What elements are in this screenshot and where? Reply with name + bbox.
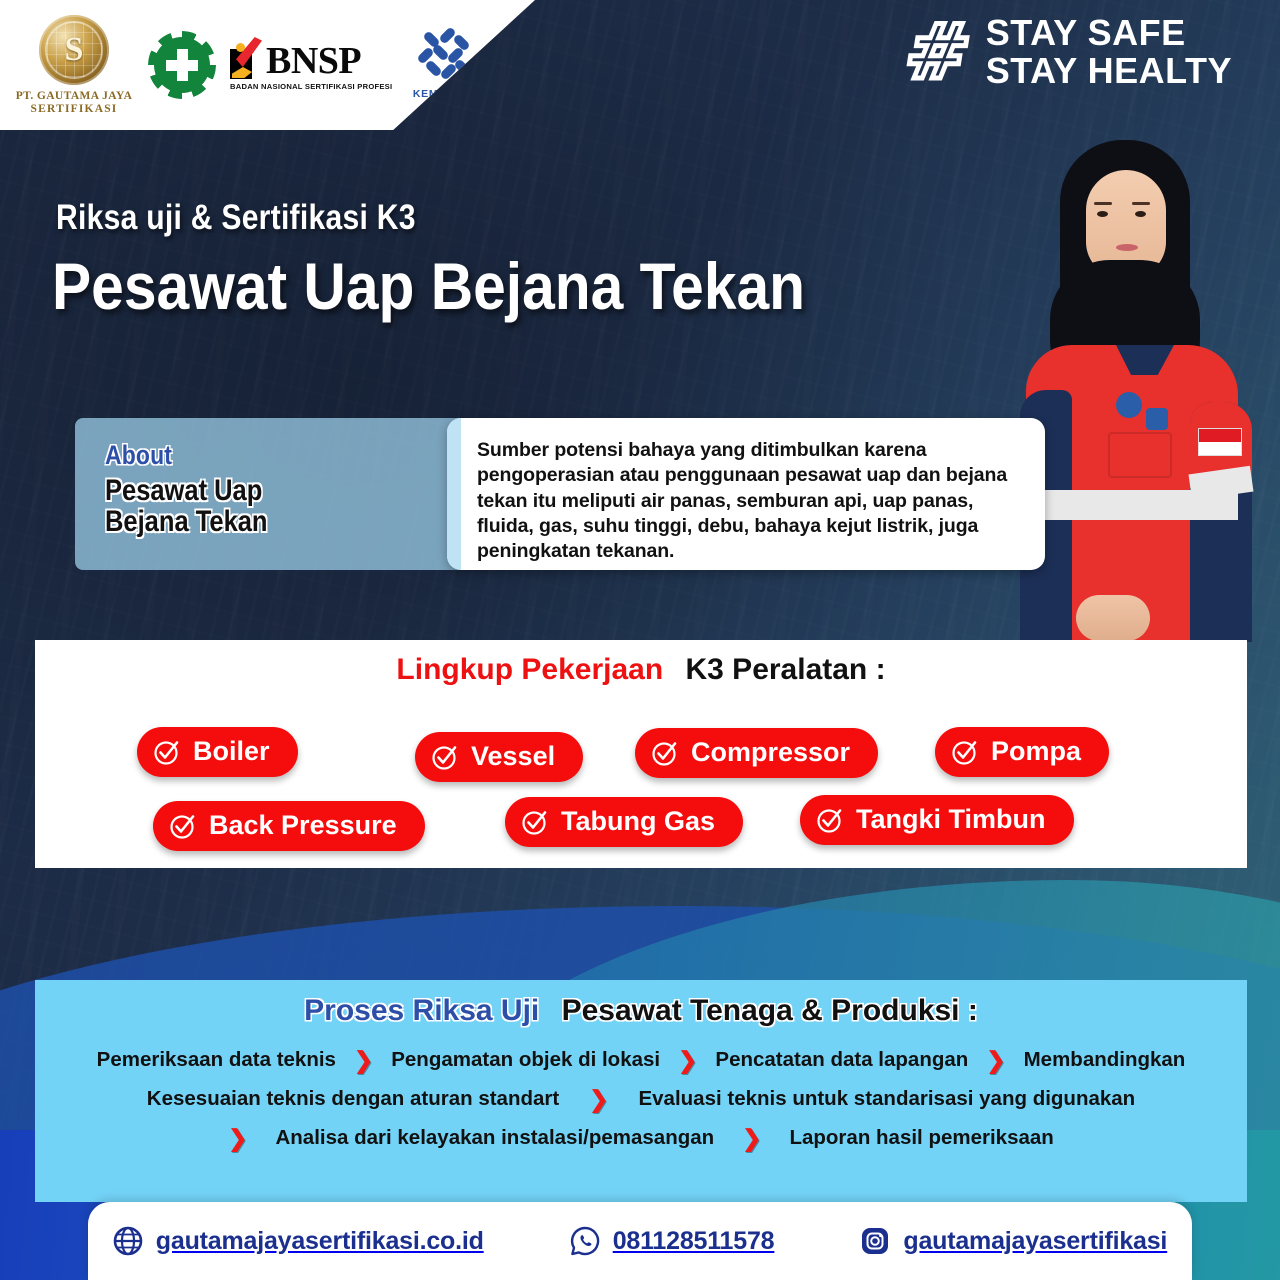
process-heading: Proses Riksa Uji Pesawat Tenaga & Produk…: [35, 994, 1247, 1028]
scope-pill-label: Vessel: [471, 741, 559, 772]
about-title: Pesawat Uap Bejana Tekan: [105, 475, 441, 537]
contact-instagram-text: gautamajayasertifikasi: [903, 1227, 1167, 1256]
process-step: Laporan hasil pemeriksaan: [789, 1126, 1053, 1150]
contact-website[interactable]: gautamajayasertifikasi.co.id: [113, 1226, 484, 1256]
scope-card: Lingkup Pekerjaan K3 Peralatan : Boiler …: [35, 640, 1247, 868]
slogan-text: STAY SAFE STAY HEALTY: [986, 14, 1232, 90]
contact-website-text: gautamajayasertifikasi.co.id: [156, 1227, 484, 1256]
check-circle-icon: [521, 808, 549, 836]
poster-root: PT. GAUTAMA JAYA SERTIFIKASI BNSP BADAN …: [0, 0, 1280, 1280]
scope-pill-tabung-gas[interactable]: Tabung Gas: [505, 797, 743, 847]
process-step: Pencatatan data lapangan: [715, 1048, 968, 1072]
scope-pill-label: Tabung Gas: [561, 806, 719, 837]
instagram-icon: [860, 1226, 890, 1256]
process-steps-row-3: ❯ Analisa dari kelayakan instalasi/pemas…: [35, 1126, 1247, 1150]
about-text-panel: Sumber potensi bahaya yang ditimbulkan k…: [447, 418, 1045, 570]
hero-kicker: Riksa uji & Sertifikasi K3: [56, 198, 416, 238]
process-panel: Proses Riksa Uji Pesawat Tenaga & Produk…: [35, 980, 1247, 1202]
process-step: Pemeriksaan data teknis: [97, 1048, 336, 1072]
gautama-jaya-sertifikasi-logo: PT. GAUTAMA JAYA SERTIFIKASI: [14, 15, 134, 115]
company-name-line2: SERTIFIKASI: [31, 103, 118, 115]
scope-pill-label: Pompa: [991, 736, 1085, 767]
scope-pill-back-pressure[interactable]: Back Pressure: [153, 801, 425, 851]
about-section: About Pesawat Uap Bejana Tekan Sumber po…: [75, 418, 975, 570]
scope-pill-boiler[interactable]: Boiler: [137, 727, 298, 777]
contact-instagram[interactable]: gautamajayasertifikasi: [860, 1226, 1167, 1256]
process-step: Analisa dari kelayakan instalasi/pemasan…: [275, 1126, 714, 1150]
check-circle-icon: [169, 812, 197, 840]
about-kicker: About: [105, 440, 441, 471]
contact-bar: gautamajayasertifikasi.co.id 08112851157…: [88, 1202, 1192, 1280]
arrow-right-icon: ❯: [354, 1049, 373, 1072]
scope-pill-row-1: Boiler Vessel Compressor Pompa: [35, 727, 1247, 791]
contact-phone[interactable]: 081128511578: [570, 1226, 775, 1256]
process-step: Evaluasi teknis untuk standarisasi yang …: [638, 1087, 1135, 1111]
process-heading-blue: Proses Riksa Uji: [304, 994, 539, 1027]
scope-pill-label: Tangki Timbun: [856, 804, 1050, 835]
bnsp-logo: BNSP BADAN NASIONAL SERTIFIKASI PROFESI: [230, 39, 380, 91]
scope-pill-vessel[interactable]: Vessel: [415, 732, 583, 782]
scope-pill-row-2: Back Pressure Tabung Gas Tangki Timbun: [35, 801, 1247, 865]
indonesia-flag-patch: [1198, 428, 1242, 456]
arrow-right-icon: ❯: [228, 1127, 247, 1150]
globe-icon: [113, 1226, 143, 1256]
slogan-line1: STAY SAFE: [986, 14, 1232, 52]
process-step: Kesesuaian teknis dengan aturan standart: [147, 1087, 559, 1111]
arrow-right-icon: ❯: [986, 1049, 1005, 1072]
scope-pill-pompa[interactable]: Pompa: [935, 727, 1109, 777]
process-heading-dark: Pesawat Tenaga & Produksi :: [562, 994, 978, 1027]
scope-heading: Lingkup Pekerjaan K3 Peralatan :: [35, 640, 1247, 687]
scope-heading-red: Lingkup Pekerjaan: [396, 653, 663, 686]
whatsapp-icon: [570, 1226, 600, 1256]
check-circle-icon: [651, 739, 679, 767]
bnsp-figure-icon: [230, 39, 264, 79]
process-step: Pengamatan objek di lokasi: [391, 1048, 660, 1072]
check-circle-icon: [816, 806, 844, 834]
check-circle-icon: [951, 738, 979, 766]
arrow-right-icon: ❯: [589, 1088, 608, 1111]
check-circle-icon: [431, 743, 459, 771]
k3-gear-cross-logo: [154, 37, 210, 93]
bnsp-subtitle: BADAN NASIONAL SERTIFIKASI PROFESI: [230, 82, 380, 91]
hashtag-icon: #: [901, 19, 975, 86]
about-label-panel: About Pesawat Uap Bejana Tekan: [75, 418, 500, 570]
about-title-line2: Bejana Tekan: [105, 506, 441, 537]
scope-pill-compressor[interactable]: Compressor: [635, 728, 878, 778]
cross-horizontal: [166, 60, 197, 71]
company-name-line1: PT. GAUTAMA JAYA: [16, 90, 133, 102]
arrow-right-icon: ❯: [742, 1127, 761, 1150]
scope-pill-label: Compressor: [691, 737, 854, 768]
about-title-line1: Pesawat Uap: [105, 475, 441, 506]
process-step: Membandingkan: [1024, 1048, 1186, 1072]
process-steps-row-1: Pemeriksaan data teknis ❯ Pengamatan obj…: [35, 1048, 1247, 1072]
check-circle-icon: [153, 738, 181, 766]
bnsp-wordmark: BNSP: [266, 44, 361, 79]
process-steps-row-2: Kesesuaian teknis dengan aturan standart…: [35, 1087, 1247, 1111]
slogan-line2: STAY HEALTY: [986, 52, 1232, 90]
about-body-text: Sumber potensi bahaya yang ditimbulkan k…: [477, 438, 1019, 565]
scope-pill-label: Boiler: [193, 736, 274, 767]
scope-heading-dark: K3 Peralatan :: [686, 653, 886, 686]
slogan-block: # STAY SAFE STAY HEALTY: [906, 14, 1232, 90]
contact-phone-text: 081128511578: [613, 1227, 775, 1256]
scope-pill-label: Back Pressure: [209, 810, 401, 841]
globe-monogram-icon: [39, 15, 109, 85]
hero-headline: Pesawat Uap Bejana Tekan: [52, 248, 805, 324]
scope-pill-tangki-timbun[interactable]: Tangki Timbun: [800, 795, 1074, 845]
arrow-right-icon: ❯: [678, 1049, 697, 1072]
